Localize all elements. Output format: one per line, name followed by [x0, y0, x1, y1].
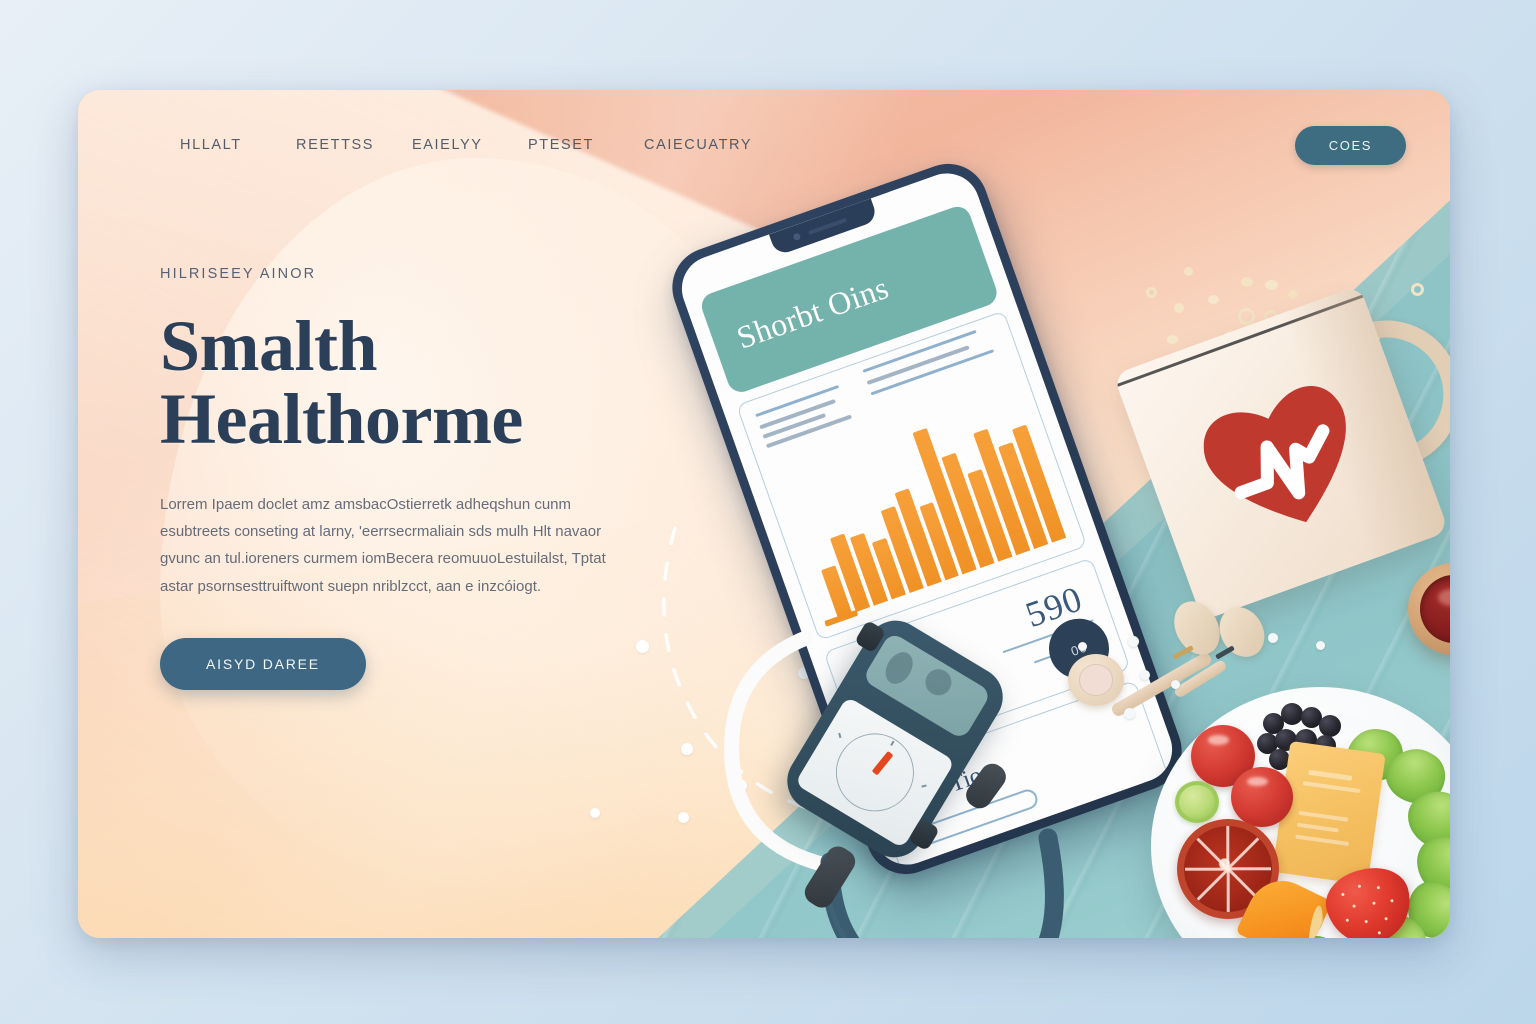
steam-dot [1288, 290, 1298, 299]
app-header-title: Shorbt Oins [732, 269, 893, 357]
cheese-mark [1298, 811, 1348, 822]
orange-segment-line [1197, 868, 1229, 900]
steam-ring [1146, 287, 1157, 298]
blueberry [1281, 703, 1303, 725]
orange-segment-line [1228, 868, 1271, 871]
cheese-mark [1297, 823, 1339, 833]
strawberry-seed [1372, 901, 1376, 905]
bowl-gloss [1438, 589, 1450, 607]
steam-ring [1411, 283, 1424, 296]
nav-item-4[interactable]: CAIECUATRY [642, 131, 758, 159]
steam-dot [1265, 280, 1278, 290]
dial-tick [921, 784, 926, 787]
nav-cta-button[interactable]: COES [1295, 126, 1406, 165]
decoration-dot [590, 808, 600, 818]
nav-item-1[interactable]: REETTSS [294, 131, 410, 159]
pill-dot [1128, 636, 1139, 647]
orange-segment-line [1197, 838, 1229, 870]
orange-segment-line [1227, 869, 1230, 912]
steam-dot [1184, 267, 1193, 276]
steam-dot [1167, 335, 1178, 344]
strawberry-seed [1377, 931, 1381, 935]
page-title: SmalthHealthorme [160, 310, 630, 457]
strawberry-seed [1364, 920, 1368, 924]
steam-dot [1241, 277, 1253, 287]
steam-dot [1208, 295, 1219, 304]
strawberry-seed [1390, 899, 1394, 903]
cheese-mark [1303, 781, 1361, 793]
bp-display-blob [880, 647, 918, 689]
camera-icon [792, 232, 801, 241]
strawberry-seed [1341, 893, 1345, 897]
pill-dot [1316, 641, 1325, 650]
cucumber-slice [1175, 781, 1219, 823]
pill-dot [1140, 670, 1150, 680]
hero-copy: HILRISEEY AINOR SmalthHealthorme Lorrem … [160, 266, 630, 690]
top-navigation: HLLALT REETTSS EAIELYY PTESET CAIECUATRY… [78, 90, 1450, 200]
cheese-mark [1308, 770, 1352, 781]
nav-item-2[interactable]: EAIELYY [410, 131, 526, 159]
strawberry-seed [1358, 884, 1362, 888]
pill-dot [1268, 633, 1278, 643]
berry-bowl [1408, 563, 1450, 655]
headline-line-1: Smalth [160, 306, 377, 386]
speaker-grille [808, 218, 847, 235]
strawberry-seed [1377, 886, 1381, 890]
healthy-food-plate [1151, 687, 1450, 938]
nav-item-3[interactable]: PTESET [526, 131, 642, 159]
cheese-mark [1295, 835, 1349, 846]
hero-body-text: Lorrem Ipaem doclet amz amsbacOstierretk… [160, 491, 610, 600]
strawberry-seed [1384, 917, 1388, 921]
strawberry-seed [1345, 918, 1349, 922]
blueberry [1319, 715, 1341, 737]
hero-card: HLLALT REETTSS EAIELYY PTESET CAIECUATRY… [78, 90, 1450, 938]
wooden-spoon-small [1171, 598, 1281, 688]
headline-line-2: Healthorme [160, 379, 523, 459]
dial-tick [838, 733, 841, 738]
hero-cta-button[interactable]: AISYD DAREE [160, 638, 366, 690]
orange-segment-line [1185, 868, 1228, 871]
orange-segment-line [1227, 838, 1259, 870]
tomato [1231, 767, 1293, 827]
nav-item-0[interactable]: HLLALT [178, 131, 294, 159]
page-root: HLLALT REETTSS EAIELYY PTESET CAIECUATRY… [0, 0, 1536, 1024]
steam-dot [1174, 303, 1184, 313]
hero-eyebrow: HILRISEEY AINOR [160, 266, 630, 282]
steam-ring [1238, 308, 1255, 325]
strawberry-seed [1352, 904, 1356, 908]
decoration-dot [636, 640, 649, 653]
bp-display-blob [921, 664, 957, 700]
cheese-slice [1272, 741, 1385, 885]
nav-links: HLLALT REETTSS EAIELYY PTESET CAIECUATRY [178, 131, 758, 159]
orange-segment-line [1227, 826, 1230, 869]
